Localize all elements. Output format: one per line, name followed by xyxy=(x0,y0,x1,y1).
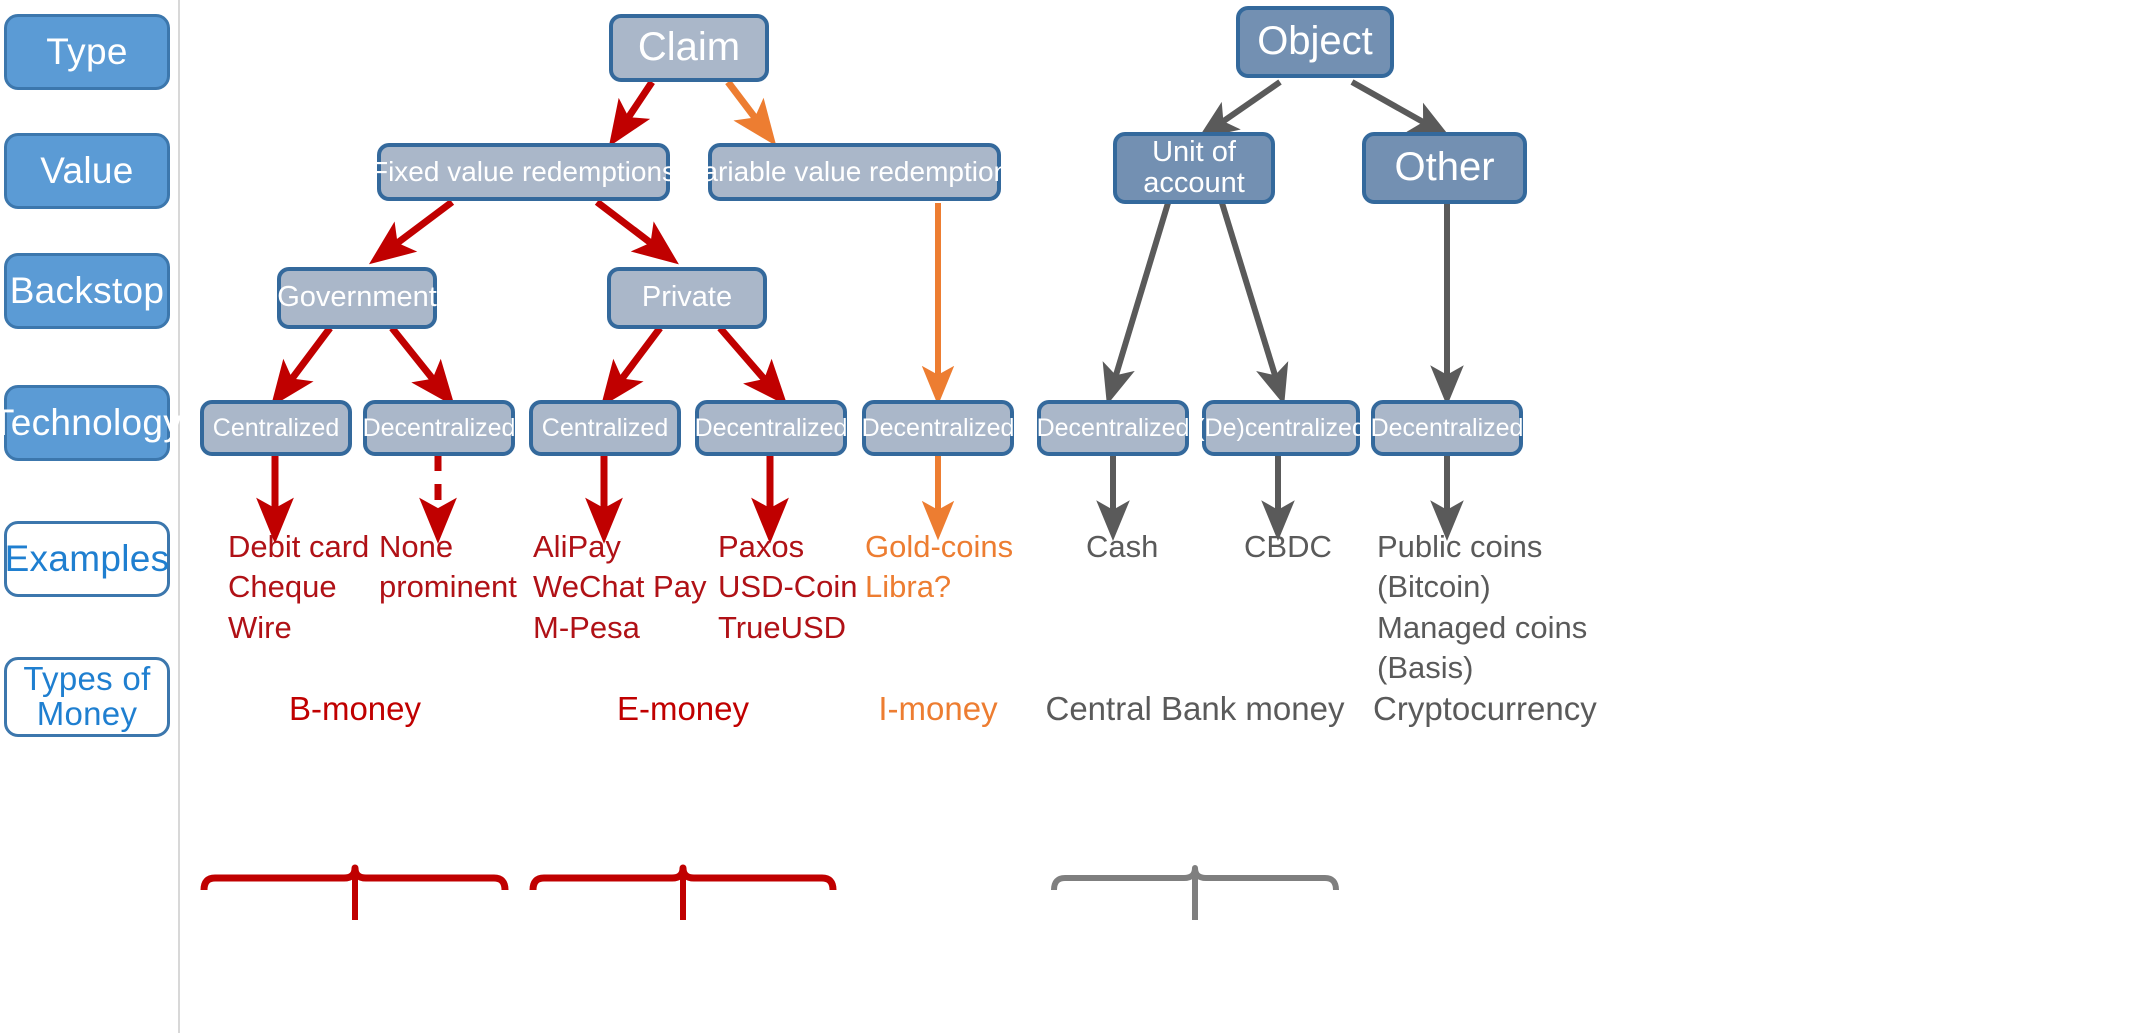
brace-b-money xyxy=(204,868,505,890)
node-claim[interactable]: Claim xyxy=(609,14,769,82)
money-type-b-money: B-money xyxy=(255,690,455,728)
rail-separator xyxy=(178,0,180,1033)
node-tech-priv-decentralized-label: Decentralized xyxy=(695,415,848,442)
node-private[interactable]: Private xyxy=(607,267,767,329)
node-tech-gov-decentralized-label: Decentralized xyxy=(363,415,516,442)
node-tech-other-decentralized-label: Decentralized xyxy=(1371,415,1524,442)
row-label-examples: Examples xyxy=(4,521,170,597)
row-label-technology-text: Technology xyxy=(0,404,182,443)
edge-government-centralized xyxy=(285,328,330,388)
edge-uoa-decentralized xyxy=(1113,203,1168,385)
row-label-backstop: Backstop xyxy=(4,253,170,329)
node-unit-of-account[interactable]: Unit of account xyxy=(1113,132,1275,204)
node-tech-other-decentralized[interactable]: Decentralized xyxy=(1371,400,1523,456)
edge-object-unit-of-account xyxy=(1215,82,1280,127)
row-label-value: Value xyxy=(4,133,170,209)
row-label-technology: Technology xyxy=(4,385,170,461)
node-object-label: Object xyxy=(1257,20,1373,63)
node-variable-value-redemptions-label: Variable value redemptions xyxy=(686,157,1023,187)
node-fixed-value-redemptions[interactable]: Fixed value redemptions xyxy=(377,143,670,201)
node-private-label: Private xyxy=(642,282,732,313)
node-object[interactable]: Object xyxy=(1236,6,1394,78)
examples-cryptocurrency: Public coins (Bitcoin) Managed coins (Ba… xyxy=(1377,527,1587,688)
node-tech-uoa-decentralized[interactable]: Decentralized xyxy=(1037,400,1189,456)
node-other[interactable]: Other xyxy=(1362,132,1527,204)
node-tech-gov-decentralized[interactable]: Decentralized xyxy=(363,400,515,456)
row-label-types-of-money: Types of Money xyxy=(4,657,170,737)
row-label-backstop-text: Backstop xyxy=(10,272,165,311)
node-other-label: Other xyxy=(1394,146,1494,189)
examples-b-money-centralized: Debit card Cheque Wire xyxy=(228,527,369,648)
node-government-label: Government xyxy=(277,282,437,313)
node-tech-priv-centralized[interactable]: Centralized xyxy=(529,400,681,456)
money-type-e-money: E-money xyxy=(583,690,783,728)
node-tech-variable-decentralized-label: Decentralized xyxy=(862,415,1015,442)
money-type-cryptocurrency: Cryptocurrency xyxy=(1373,690,1673,728)
node-unit-of-account-label: Unit of account xyxy=(1143,137,1245,200)
node-government[interactable]: Government xyxy=(277,267,437,329)
edge-government-decentralized xyxy=(392,328,440,388)
node-fixed-value-redemptions-label: Fixed value redemptions xyxy=(371,157,676,187)
edge-private-decentralized xyxy=(720,328,772,388)
edge-claim-fixed xyxy=(622,82,652,127)
node-variable-value-redemptions[interactable]: Variable value redemptions xyxy=(708,143,1001,201)
examples-cbdc: CBDC xyxy=(1244,527,1332,567)
node-tech-variable-decentralized[interactable]: Decentralized xyxy=(862,400,1014,456)
edge-fixed-government xyxy=(388,202,452,250)
money-type-central-bank-money: Central Bank money xyxy=(1045,690,1345,728)
node-tech-priv-decentralized[interactable]: Decentralized xyxy=(695,400,847,456)
edge-uoa-decentralized2 xyxy=(1222,203,1278,385)
row-label-examples-text: Examples xyxy=(5,540,170,579)
row-label-type: Type xyxy=(4,14,170,90)
examples-e-money-decentralized: Paxos USD-Coin TrueUSD xyxy=(718,527,858,648)
connector-layer xyxy=(0,0,2145,1033)
node-tech-uoa-decentralized2[interactable]: (De)centralized xyxy=(1202,400,1360,456)
brace-e-money xyxy=(533,868,833,890)
examples-b-money-decentralized: None prominent xyxy=(379,527,517,608)
edge-object-other xyxy=(1352,82,1432,127)
edge-claim-variable xyxy=(728,82,762,127)
examples-e-money-centralized: AliPay WeChat Pay M-Pesa xyxy=(533,527,706,648)
node-tech-uoa-decentralized2-label: (De)centralized xyxy=(1196,415,1366,442)
edge-private-centralized xyxy=(615,328,660,388)
node-tech-gov-centralized[interactable]: Centralized xyxy=(200,400,352,456)
examples-i-money: Gold-coins Libra? xyxy=(865,527,1013,608)
node-tech-uoa-decentralized-label: Decentralized xyxy=(1037,415,1190,442)
money-type-i-money: I-money xyxy=(838,690,1038,728)
row-label-types-of-money-text: Types of Money xyxy=(23,662,150,731)
node-tech-gov-centralized-label: Centralized xyxy=(213,415,339,442)
examples-cash: Cash xyxy=(1086,527,1158,567)
row-label-type-text: Type xyxy=(46,33,127,72)
brace-central-bank-money xyxy=(1054,868,1336,890)
row-label-value-text: Value xyxy=(40,152,133,191)
diagram-canvas: Type Value Backstop Technology Examples … xyxy=(0,0,2145,1033)
edge-fixed-private xyxy=(597,202,660,250)
node-claim-label: Claim xyxy=(638,26,740,69)
node-tech-priv-centralized-label: Centralized xyxy=(542,415,668,442)
